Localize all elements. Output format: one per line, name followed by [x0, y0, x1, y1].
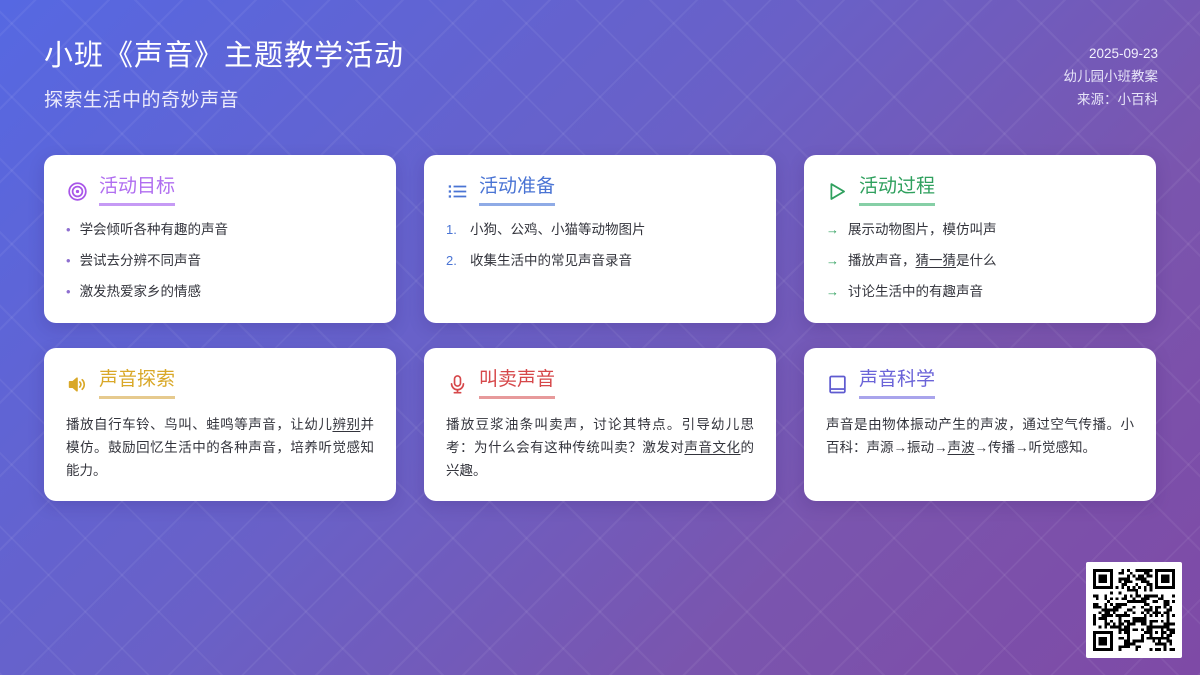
list-item-text: 学会倾听各种有趣的声音: [80, 220, 374, 240]
text-before: 播放声音，: [848, 253, 916, 268]
target-icon: [66, 180, 88, 202]
highlight-text[interactable]: 声音文化: [684, 440, 740, 455]
qr-code-image: [1093, 569, 1175, 651]
list-item: → 讨论生活中的有趣声音: [826, 282, 1134, 302]
page-subtitle: 探索生活中的奇妙声音: [44, 85, 404, 112]
highlight-text[interactable]: 辨别: [332, 417, 360, 432]
bullet-marker: •: [66, 252, 71, 271]
number-marker: 2.: [446, 252, 461, 271]
list-item-text: 激发热爱家乡的情感: [80, 282, 374, 302]
meta-source: 来源：小百科: [1064, 88, 1159, 111]
card-header: 活动目标: [66, 177, 374, 206]
list-item-text: 尝试去分辨不同声音: [80, 251, 374, 271]
card-body-text: 声音是由物体振动产生的声波，通过空气传播。小百科：声源→振动→声波→传播→听觉感…: [826, 413, 1134, 459]
card-title: 叫卖声音: [479, 370, 555, 399]
card-header: 活动准备: [446, 177, 754, 206]
meta-date: 2025-09-23: [1064, 42, 1159, 65]
card-sound-exploration[interactable]: 声音探索 播放自行车铃、鸟叫、蛙鸣等声音，让幼儿辨别并模仿。鼓励回忆生活中的各种…: [44, 348, 396, 501]
card-vendor-calls[interactable]: 叫卖声音 播放豆浆油条叫卖声，讨论其特点。引导幼儿思考：为什么会有这种传统叫卖？…: [424, 348, 776, 501]
arrow-marker: →: [826, 252, 839, 271]
goals-list: • 学会倾听各种有趣的声音 • 尝试去分辨不同声音 • 激发热爱家乡的情感: [66, 220, 374, 302]
list-item: → 展示动物图片，模仿叫声: [826, 220, 1134, 240]
card-grid: 活动目标 • 学会倾听各种有趣的声音 • 尝试去分辨不同声音 • 激发热爱家乡的…: [44, 155, 1156, 501]
text-before: 播放自行车铃、鸟叫、蛙鸣等声音，让幼儿: [66, 417, 332, 432]
card-body-text: 播放豆浆油条叫卖声，讨论其特点。引导幼儿思考：为什么会有这种传统叫卖？激发对声音…: [446, 413, 754, 483]
list-item: • 激发热爱家乡的情感: [66, 282, 374, 302]
microphone-icon: [446, 373, 468, 395]
speaker-icon: [66, 373, 88, 395]
card-activity-preparation[interactable]: 活动准备 1. 小狗、公鸡、小猫等动物图片 2. 收集生活中的常见声音录音: [424, 155, 776, 323]
card-activity-process[interactable]: 活动过程 → 展示动物图片，模仿叫声 → 播放声音，猜一猜是什么 → 讨论生活中…: [804, 155, 1156, 323]
slide-header: 小班《声音》主题教学活动 探索生活中的奇妙声音 2025-09-23 幼儿园小班…: [0, 0, 1200, 140]
card-title: 声音科学: [859, 370, 935, 399]
card-title: 活动准备: [479, 177, 555, 206]
number-marker: 1.: [446, 221, 461, 240]
highlight-text[interactable]: 声波: [948, 440, 975, 455]
card-body-text: 播放自行车铃、鸟叫、蛙鸣等声音，让幼儿辨别并模仿。鼓励回忆生活中的各种声音，培养…: [66, 413, 374, 483]
list-item: 2. 收集生活中的常见声音录音: [446, 251, 754, 271]
bullet-marker: •: [66, 221, 71, 240]
page-title: 小班《声音》主题教学活动: [44, 38, 404, 76]
highlight-text[interactable]: 猜一猜: [916, 253, 957, 268]
card-activity-goals[interactable]: 活动目标 • 学会倾听各种有趣的声音 • 尝试去分辨不同声音 • 激发热爱家乡的…: [44, 155, 396, 323]
list-item-text: 展示动物图片，模仿叫声: [848, 220, 1134, 240]
card-header: 声音探索: [66, 370, 374, 399]
header-meta: 2025-09-23 幼儿园小班教案 来源：小百科: [1064, 38, 1159, 112]
list-item-text: 收集生活中的常见声音录音: [470, 251, 754, 271]
book-icon: [826, 373, 848, 395]
list-item-text: 讨论生活中的有趣声音: [848, 282, 1134, 302]
list-item-text: 播放声音，猜一猜是什么: [848, 251, 1134, 271]
card-header: 活动过程: [826, 177, 1134, 206]
preparation-list: 1. 小狗、公鸡、小猫等动物图片 2. 收集生活中的常见声音录音: [446, 220, 754, 271]
header-left: 小班《声音》主题教学活动 探索生活中的奇妙声音: [44, 38, 404, 112]
slide-canvas: 小班《声音》主题教学活动 探索生活中的奇妙声音 2025-09-23 幼儿园小班…: [0, 0, 1200, 675]
list-item: • 尝试去分辨不同声音: [66, 251, 374, 271]
card-header: 声音科学: [826, 370, 1134, 399]
list-item: • 学会倾听各种有趣的声音: [66, 220, 374, 240]
qr-code[interactable]: [1086, 562, 1182, 658]
list-icon: [446, 180, 468, 202]
card-title: 声音探索: [99, 370, 175, 399]
list-item: 1. 小狗、公鸡、小猫等动物图片: [446, 220, 754, 240]
process-list: → 展示动物图片，模仿叫声 → 播放声音，猜一猜是什么 → 讨论生活中的有趣声音: [826, 220, 1134, 302]
card-title: 活动目标: [99, 177, 175, 206]
card-sound-science[interactable]: 声音科学 声音是由物体振动产生的声波，通过空气传播。小百科：声源→振动→声波→传…: [804, 348, 1156, 501]
arrow-marker: →: [826, 221, 839, 240]
text-after: 是什么: [956, 253, 997, 268]
bullet-marker: •: [66, 283, 71, 302]
text-after: →传播→听觉感知。: [975, 440, 1097, 455]
card-title: 活动过程: [859, 177, 935, 206]
play-triangle-icon: [826, 180, 848, 202]
arrow-marker: →: [826, 283, 839, 302]
list-item-text: 小狗、公鸡、小猫等动物图片: [470, 220, 754, 240]
list-item: → 播放声音，猜一猜是什么: [826, 251, 1134, 271]
card-header: 叫卖声音: [446, 370, 754, 399]
meta-category: 幼儿园小班教案: [1064, 65, 1159, 88]
